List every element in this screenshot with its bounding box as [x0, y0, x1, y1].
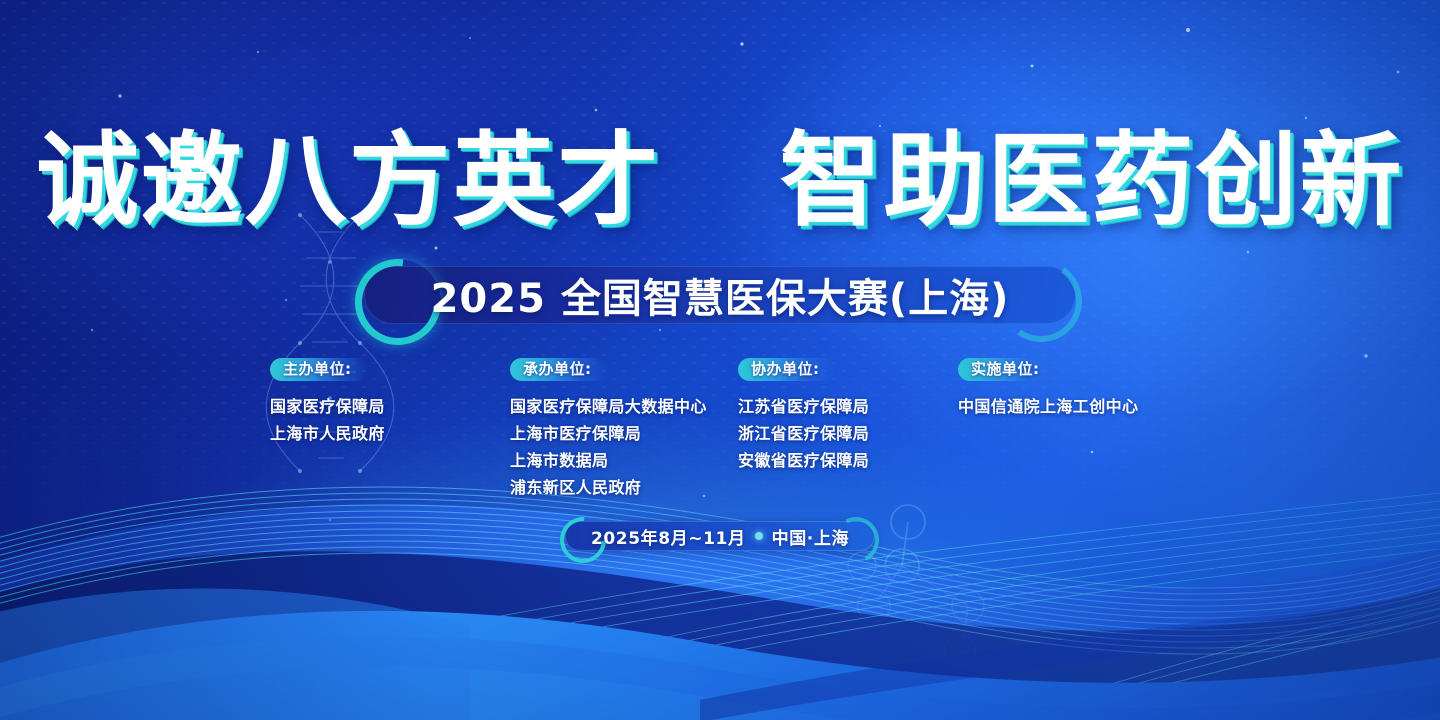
organizer-columns: 主办单位: 国家医疗保障局 上海市人民政府 承办单位: 国家医疗保障局大数据中心…	[0, 358, 1440, 501]
organizer-column-undertaker: 承办单位: 国家医疗保障局大数据中心 上海市医疗保障局 上海市数据局 浦东新区人…	[510, 358, 738, 501]
page-title: 诚邀八方英才 智助医药创新	[0, 128, 1440, 236]
list-item: 上海市人民政府	[270, 420, 510, 447]
list-item: 中国信通院上海工创中心	[958, 393, 1188, 420]
organizer-list-coorganizer: 江苏省医疗保障局 浙江省医疗保障局 安徽省医疗保障局	[738, 393, 958, 474]
event-location: 中国·上海	[772, 524, 849, 549]
organizer-header-undertaker: 承办单位:	[510, 358, 608, 381]
organizer-header-coorganizer: 协办单位:	[738, 358, 836, 381]
subtitle-badge: 2025 全国智慧医保大赛(上海)	[364, 266, 1076, 324]
organizer-list-host: 国家医疗保障局 上海市人民政府	[270, 393, 510, 447]
organizer-header-implementer: 实施单位:	[958, 358, 1056, 381]
headline-left: 诚邀八方英才	[36, 122, 660, 241]
organizer-list-implementer: 中国信通院上海工创中心	[958, 393, 1188, 420]
list-item: 安徽省医疗保障局	[738, 447, 958, 474]
date-location-badge: 2025年8月~11月 中国·上海	[565, 521, 875, 551]
promo-banner: 诚邀八方英才 智助医药创新 2025 全国智慧医保大赛(上海) 主办单位: 国家…	[0, 0, 1440, 720]
list-item: 江苏省医疗保障局	[738, 393, 958, 420]
list-item: 国家医疗保障局大数据中心	[510, 393, 738, 420]
organizer-header-host: 主办单位:	[270, 358, 368, 381]
dot-separator-icon	[755, 532, 763, 540]
subtitle-row: 2025 全国智慧医保大赛(上海)	[0, 266, 1440, 324]
event-date: 2025年8月~11月	[591, 524, 746, 549]
organizer-column-coorganizer: 协办单位: 江苏省医疗保障局 浙江省医疗保障局 安徽省医疗保障局	[738, 358, 958, 474]
list-item: 浦东新区人民政府	[510, 474, 738, 501]
organizer-column-host: 主办单位: 国家医疗保障局 上海市人民政府	[252, 358, 510, 447]
banner-content: 诚邀八方英才 智助医药创新 2025 全国智慧医保大赛(上海) 主办单位: 国家…	[0, 0, 1440, 720]
subtitle-text: 2025 全国智慧医保大赛(上海)	[431, 266, 1010, 324]
list-item: 上海市数据局	[510, 447, 738, 474]
headline-right: 智助医药创新	[780, 122, 1404, 241]
organizer-list-undertaker: 国家医疗保障局大数据中心 上海市医疗保障局 上海市数据局 浦东新区人民政府	[510, 393, 738, 501]
list-item: 国家医疗保障局	[270, 393, 510, 420]
footer-row: 2025年8月~11月 中国·上海	[0, 521, 1440, 551]
organizer-column-implementer: 实施单位: 中国信通院上海工创中心	[958, 358, 1188, 420]
list-item: 上海市医疗保障局	[510, 420, 738, 447]
list-item: 浙江省医疗保障局	[738, 420, 958, 447]
